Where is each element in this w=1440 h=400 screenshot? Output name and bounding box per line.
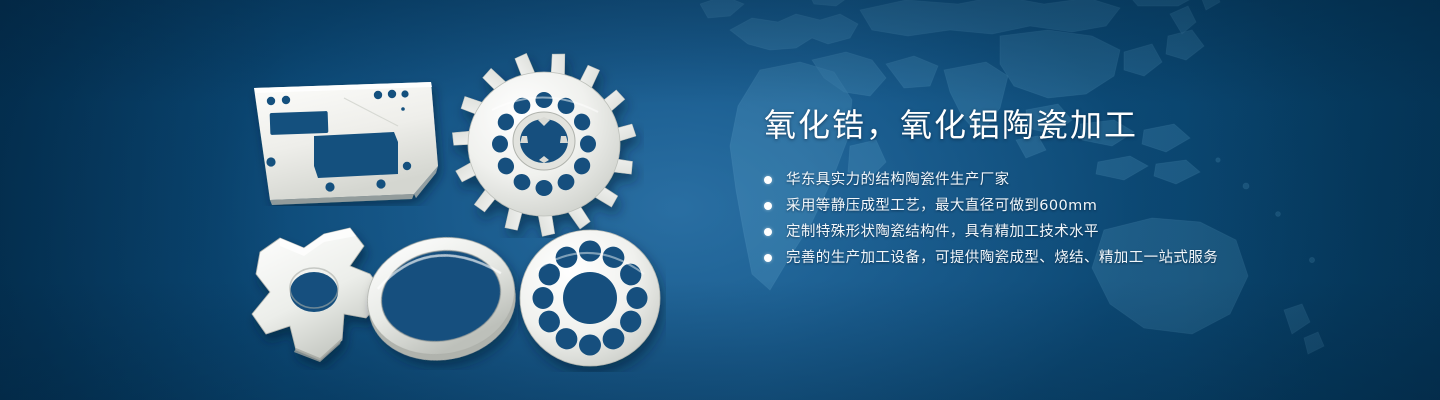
list-item: 定制特殊形状陶瓷结构件，具有精加工技术水平 (764, 223, 1324, 241)
ceramic-plate-with-cutouts (246, 74, 450, 206)
feature-text: 完善的生产加工设备，可提供陶瓷成型、烧结、精加工一站式服务 (786, 249, 1218, 267)
product-banner: 氧化锆，氧化铝陶瓷加工 华东具实力的结构陶瓷件生产厂家 采用等静压成型工艺，最大… (0, 0, 1440, 400)
feature-text: 华东具实力的结构陶瓷件生产厂家 (786, 171, 1010, 189)
list-item: 华东具实力的结构陶瓷件生产厂家 (764, 171, 1324, 189)
list-item: 采用等静压成型工艺，最大直径可做到600mm (764, 197, 1324, 215)
ceramic-impeller-disc (448, 48, 644, 238)
feature-list: 华东具实力的结构陶瓷件生产厂家 采用等静压成型工艺，最大直径可做到600mm 定… (764, 171, 1324, 267)
bullet-dot-icon (764, 254, 772, 262)
list-item: 完善的生产加工设备，可提供陶瓷成型、烧结、精加工一站式服务 (764, 249, 1324, 267)
page-title: 氧化锆，氧化铝陶瓷加工 (764, 108, 1324, 143)
ceramic-hole-disc (518, 222, 666, 372)
bullet-dot-icon (764, 228, 772, 236)
banner-copy: 氧化锆，氧化铝陶瓷加工 华东具实力的结构陶瓷件生产厂家 采用等静压成型工艺，最大… (764, 108, 1324, 267)
bullet-dot-icon (764, 202, 772, 210)
bullet-dot-icon (764, 176, 772, 184)
feature-text: 采用等静压成型工艺，最大直径可做到600mm (786, 197, 1097, 215)
ceramic-ring (346, 222, 536, 370)
feature-text: 定制特殊形状陶瓷结构件，具有精加工技术水平 (786, 223, 1099, 241)
